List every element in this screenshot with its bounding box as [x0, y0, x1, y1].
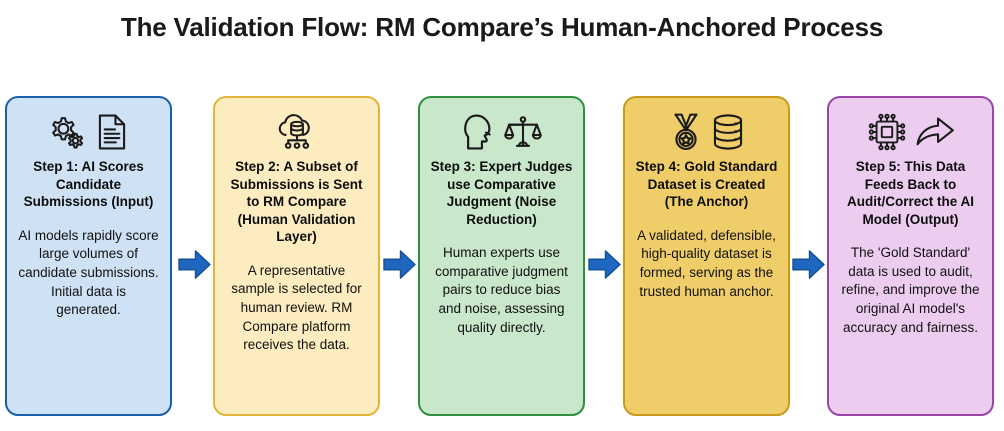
head-profile-icon	[462, 113, 496, 151]
curved-arrow-icon	[915, 114, 955, 150]
step-card-3[interactable]: Step 3: Expert Judges use Comparative Ju…	[418, 96, 585, 416]
step-1-heading: Step 1: AI Scores Candidate Submissions …	[14, 158, 163, 211]
step-2-body: A representative sample is selected for …	[222, 262, 371, 355]
database-icon	[711, 112, 745, 152]
medal-icon	[669, 112, 703, 152]
step-1-icon-row	[14, 108, 163, 156]
cloud-database-icon	[274, 111, 320, 153]
step-3-icon-row	[427, 108, 576, 156]
cpu-chip-icon	[867, 112, 907, 152]
step-4-icon-row	[632, 108, 781, 156]
arrow-step4-to-step5	[792, 248, 825, 281]
step-4-body: A validated, defensible, high-quality da…	[632, 227, 781, 302]
document-icon	[96, 113, 128, 151]
gear-icon	[50, 113, 88, 151]
step-card-5[interactable]: Step 5: This Data Feeds Back to Audit/Co…	[827, 96, 994, 416]
step-card-2[interactable]: Step 2: A Subset of Submissions is Sent …	[213, 96, 380, 416]
step-5-icon-row	[836, 108, 985, 156]
step-card-1[interactable]: Step 1: AI Scores Candidate Submissions …	[5, 96, 172, 416]
step-2-heading: Step 2: A Subset of Submissions is Sent …	[222, 158, 371, 246]
step-5-heading: Step 5: This Data Feeds Back to Audit/Co…	[836, 158, 985, 228]
arrow-step1-to-step2	[178, 248, 211, 281]
step-5-body: The 'Gold Standard' data is used to audi…	[836, 244, 985, 337]
step-4-heading: Step 4: Gold Standard Dataset is Created…	[632, 158, 781, 211]
arrow-step3-to-step4	[588, 248, 621, 281]
step-card-4[interactable]: Step 4: Gold Standard Dataset is Created…	[623, 96, 790, 416]
page-title: The Validation Flow: RM Compare’s Human-…	[0, 12, 1004, 43]
step-3-body: Human experts use comparative judgment p…	[427, 244, 576, 337]
step-2-icon-row	[222, 108, 371, 156]
arrow-step2-to-step3	[383, 248, 416, 281]
scales-icon	[504, 113, 542, 151]
step-1-body: AI models rapidly score large volumes of…	[14, 227, 163, 320]
step-3-heading: Step 3: Expert Judges use Comparative Ju…	[427, 158, 576, 228]
flow-diagram: Step 1: AI Scores Candidate Submissions …	[5, 96, 994, 418]
